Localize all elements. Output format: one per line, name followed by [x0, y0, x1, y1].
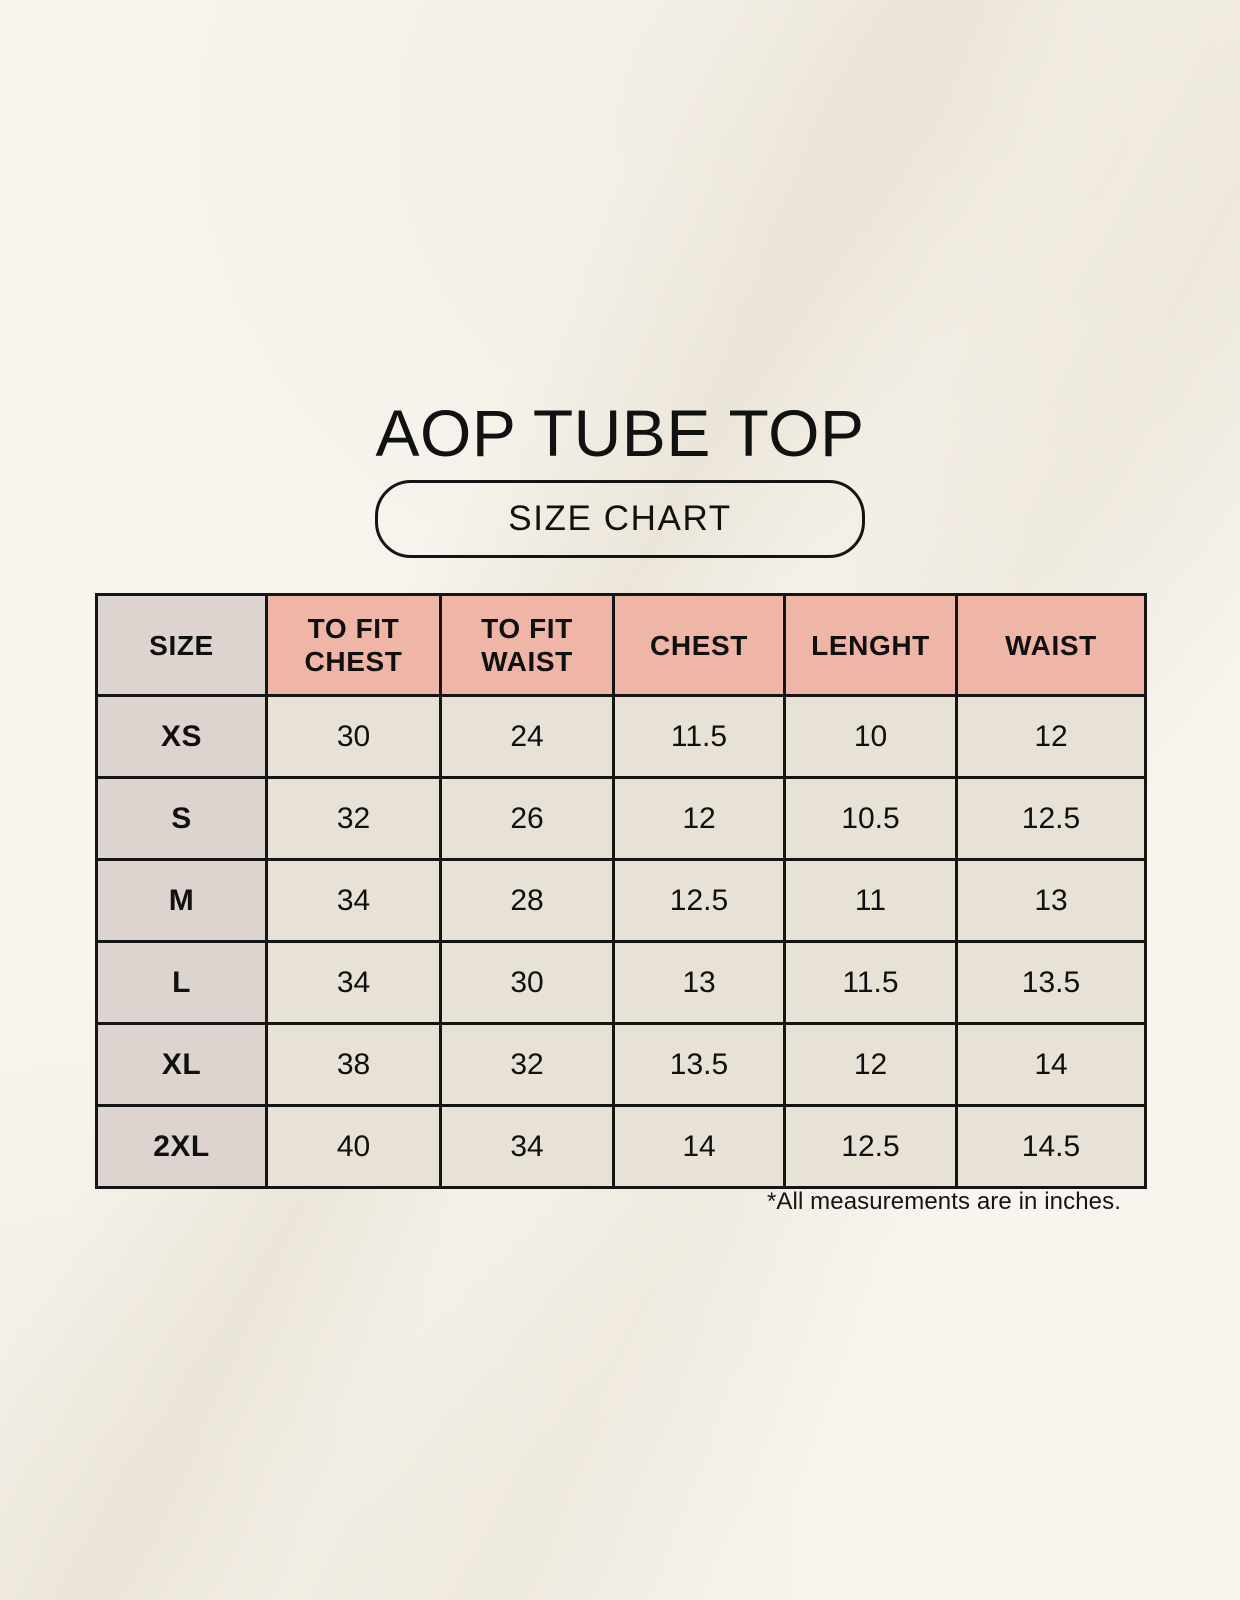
- cell-waist: 13.5: [957, 942, 1146, 1024]
- column-header-waist: WAIST: [957, 595, 1146, 696]
- column-header-to-fit-waist: TO FIT WAIST: [441, 595, 614, 696]
- table-row: S32261210.512.5: [97, 778, 1146, 860]
- cell-size: L: [97, 942, 267, 1024]
- cell-chest: 13.5: [614, 1024, 785, 1106]
- cell-length: 10: [785, 696, 957, 778]
- column-header-chest: CHEST: [614, 595, 785, 696]
- cell-chest: 13: [614, 942, 785, 1024]
- size-chart-pill: SIZE CHART: [375, 480, 865, 558]
- cell-to-fit-waist: 32: [441, 1024, 614, 1106]
- page-title: AOP TUBE TOP: [0, 396, 1240, 470]
- table-body: XS302411.51012S32261210.512.5M342812.511…: [97, 696, 1146, 1188]
- table-row: XS302411.51012: [97, 696, 1146, 778]
- cell-length: 10.5: [785, 778, 957, 860]
- cell-length: 11: [785, 860, 957, 942]
- column-header-to-fit-chest: TO FIT CHEST: [267, 595, 441, 696]
- column-header-to-fit-waist-line1: TO FIT: [481, 613, 573, 644]
- cell-chest: 14: [614, 1106, 785, 1188]
- table-header-row: SIZE TO FIT CHEST TO FIT WAIST CHEST LEN…: [97, 595, 1146, 696]
- cell-size: XS: [97, 696, 267, 778]
- column-header-to-fit-waist-line2: WAIST: [481, 646, 573, 677]
- cell-length: 11.5: [785, 942, 957, 1024]
- table-header: SIZE TO FIT CHEST TO FIT WAIST CHEST LEN…: [97, 595, 1146, 696]
- cell-size: XL: [97, 1024, 267, 1106]
- column-header-to-fit-chest-line1: TO FIT: [308, 613, 400, 644]
- measurement-note: *All measurements are in inches.: [95, 1188, 1121, 1216]
- cell-to-fit-chest: 38: [267, 1024, 441, 1106]
- cell-waist: 14: [957, 1024, 1146, 1106]
- table-row: XL383213.51214: [97, 1024, 1146, 1106]
- cell-to-fit-waist: 28: [441, 860, 614, 942]
- table-row: M342812.51113: [97, 860, 1146, 942]
- cell-chest: 12.5: [614, 860, 785, 942]
- cell-to-fit-chest: 34: [267, 942, 441, 1024]
- cell-waist: 12: [957, 696, 1146, 778]
- cell-to-fit-waist: 26: [441, 778, 614, 860]
- cell-to-fit-chest: 32: [267, 778, 441, 860]
- column-header-to-fit-chest-line2: CHEST: [305, 646, 403, 677]
- column-header-length: LENGHT: [785, 595, 957, 696]
- cell-waist: 13: [957, 860, 1146, 942]
- cell-to-fit-waist: 30: [441, 942, 614, 1024]
- cell-length: 12: [785, 1024, 957, 1106]
- cell-size: 2XL: [97, 1106, 267, 1188]
- cell-length: 12.5: [785, 1106, 957, 1188]
- size-chart-pill-label: SIZE CHART: [508, 499, 731, 539]
- cell-size: M: [97, 860, 267, 942]
- column-header-size: SIZE: [97, 595, 267, 696]
- table-row: 2XL40341412.514.5: [97, 1106, 1146, 1188]
- cell-waist: 12.5: [957, 778, 1146, 860]
- size-table-container: SIZE TO FIT CHEST TO FIT WAIST CHEST LEN…: [95, 593, 1144, 1189]
- size-chart-page: AOP TUBE TOP SIZE CHART SIZE TO FIT CHES…: [0, 0, 1240, 1600]
- cell-to-fit-chest: 40: [267, 1106, 441, 1188]
- cell-waist: 14.5: [957, 1106, 1146, 1188]
- size-chart-table: SIZE TO FIT CHEST TO FIT WAIST CHEST LEN…: [95, 593, 1147, 1189]
- cell-chest: 11.5: [614, 696, 785, 778]
- cell-to-fit-chest: 30: [267, 696, 441, 778]
- cell-chest: 12: [614, 778, 785, 860]
- table-row: L34301311.513.5: [97, 942, 1146, 1024]
- cell-to-fit-waist: 24: [441, 696, 614, 778]
- cell-to-fit-chest: 34: [267, 860, 441, 942]
- cell-to-fit-waist: 34: [441, 1106, 614, 1188]
- cell-size: S: [97, 778, 267, 860]
